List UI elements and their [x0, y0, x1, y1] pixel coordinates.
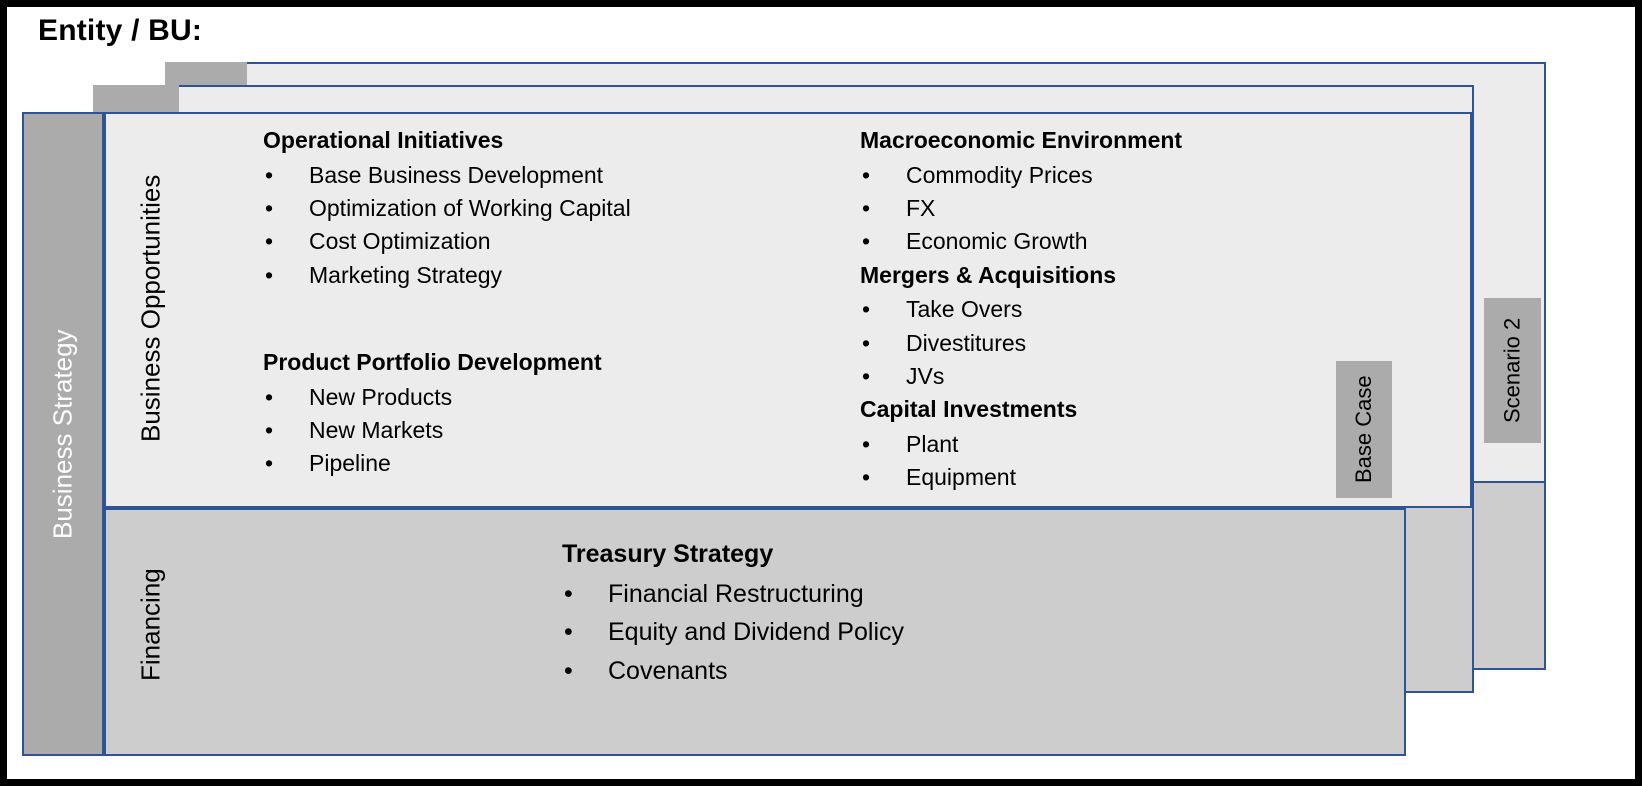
bullet-icon: •: [265, 381, 273, 414]
bullet-list: •Plant •Equipment: [860, 428, 1380, 495]
group-capital-investments: Capital Investments •Plant •Equipment: [860, 393, 1380, 494]
bullet-icon: •: [564, 613, 573, 652]
group-treasury-strategy: Treasury Strategy •Financial Restructuri…: [562, 537, 904, 691]
list-item: •Equipment: [860, 461, 1380, 494]
list-item: •Marketing Strategy: [263, 259, 823, 292]
bullet-list: •Financial Restructuring •Equity and Div…: [562, 575, 904, 691]
opportunities-right-column: Macroeconomic Environment •Commodity Pri…: [860, 124, 1380, 495]
bullet-icon: •: [265, 447, 273, 480]
list-item: •Economic Growth: [860, 225, 1380, 258]
bullet-icon: •: [862, 225, 870, 258]
bullet-icon: •: [265, 259, 273, 292]
list-item: •Optimization of Working Capital: [263, 192, 823, 225]
group-heading: Treasury Strategy: [562, 537, 904, 573]
business-strategy-spine: Business Strategy: [22, 112, 104, 756]
list-item-label: Pipeline: [309, 450, 391, 476]
group-product-portfolio-development: Product Portfolio Development •New Produ…: [263, 346, 823, 481]
list-item-label: Optimization of Working Capital: [309, 195, 631, 221]
business-opportunities-label: Business Opportunities: [128, 118, 174, 498]
list-item-label: Cost Optimization: [309, 228, 491, 254]
opportunities-left-column: Operational Initiatives •Base Business D…: [263, 124, 823, 481]
bullet-icon: •: [862, 428, 870, 461]
slide-canvas: Entity / BU: Scenario 2 Scenario 1 Busin…: [0, 0, 1642, 786]
list-item: •Financial Restructuring: [562, 575, 904, 614]
bullet-icon: •: [265, 159, 273, 192]
scenario-layer-scenario-2-corner-tab: [165, 62, 247, 86]
bullet-list: •Base Business Development •Optimization…: [263, 159, 823, 292]
scenario-tab-scenario-2[interactable]: Scenario 2: [1484, 298, 1541, 443]
page-title: Entity / BU:: [38, 14, 202, 48]
bullet-icon: •: [862, 159, 870, 192]
group-heading: Operational Initiatives: [263, 124, 823, 157]
list-item-label: New Products: [309, 384, 452, 410]
list-item: •New Markets: [263, 414, 823, 447]
list-item-label: Economic Growth: [906, 228, 1088, 254]
list-item: •Base Business Development: [263, 159, 823, 192]
list-item-label: Plant: [906, 431, 958, 457]
list-item-label: Marketing Strategy: [309, 262, 502, 288]
list-item: •New Products: [263, 381, 823, 414]
list-item-label: Equipment: [906, 464, 1016, 490]
bullet-icon: •: [862, 327, 870, 360]
group-heading: Capital Investments: [860, 393, 1380, 426]
list-item: •Cost Optimization: [263, 225, 823, 258]
group-macroeconomic-environment: Macroeconomic Environment •Commodity Pri…: [860, 124, 1380, 259]
list-item-label: Equity and Dividend Policy: [608, 618, 904, 646]
group-heading: Product Portfolio Development: [263, 346, 823, 379]
list-item: •Take Overs: [860, 293, 1380, 326]
financing-label: Financing: [128, 520, 174, 730]
bullet-icon: •: [265, 192, 273, 225]
group-mergers-acquisitions: Mergers & Acquisitions •Take Overs •Dive…: [860, 259, 1380, 394]
financing-content: Treasury Strategy •Financial Restructuri…: [562, 537, 904, 691]
list-item: •Commodity Prices: [860, 159, 1380, 192]
list-item-label: Base Business Development: [309, 162, 603, 188]
group-heading: Mergers & Acquisitions: [860, 259, 1380, 292]
bullet-icon: •: [862, 360, 870, 393]
bullet-list: •Take Overs •Divestitures •JVs: [860, 293, 1380, 393]
bullet-list: •Commodity Prices •FX •Economic Growth: [860, 159, 1380, 259]
bullet-icon: •: [862, 293, 870, 326]
list-item-label: Take Overs: [906, 296, 1022, 322]
list-item: •FX: [860, 192, 1380, 225]
group-heading: Macroeconomic Environment: [860, 124, 1380, 157]
list-item-label: Covenants: [608, 657, 728, 685]
bullet-list: •New Products •New Markets •Pipeline: [263, 381, 823, 481]
list-item: •Plant: [860, 428, 1380, 461]
bullet-icon: •: [564, 652, 573, 691]
list-item: •Covenants: [562, 652, 904, 691]
list-item-label: FX: [906, 195, 935, 221]
bullet-icon: •: [265, 414, 273, 447]
list-item-label: New Markets: [309, 417, 443, 443]
list-item: •Pipeline: [263, 447, 823, 480]
bullet-icon: •: [862, 192, 870, 225]
bullet-icon: •: [862, 461, 870, 494]
list-item: •Divestitures: [860, 327, 1380, 360]
bullet-icon: •: [265, 225, 273, 258]
list-item: •Equity and Dividend Policy: [562, 613, 904, 652]
list-item-label: JVs: [906, 363, 944, 389]
group-operational-initiatives: Operational Initiatives •Base Business D…: [263, 124, 823, 292]
list-item-label: Financial Restructuring: [608, 580, 864, 608]
bullet-icon: •: [564, 575, 573, 614]
list-item-label: Commodity Prices: [906, 162, 1093, 188]
scenario-layer-scenario-1-corner-tab: [93, 85, 179, 114]
list-item: •JVs: [860, 360, 1380, 393]
list-item-label: Divestitures: [906, 330, 1026, 356]
